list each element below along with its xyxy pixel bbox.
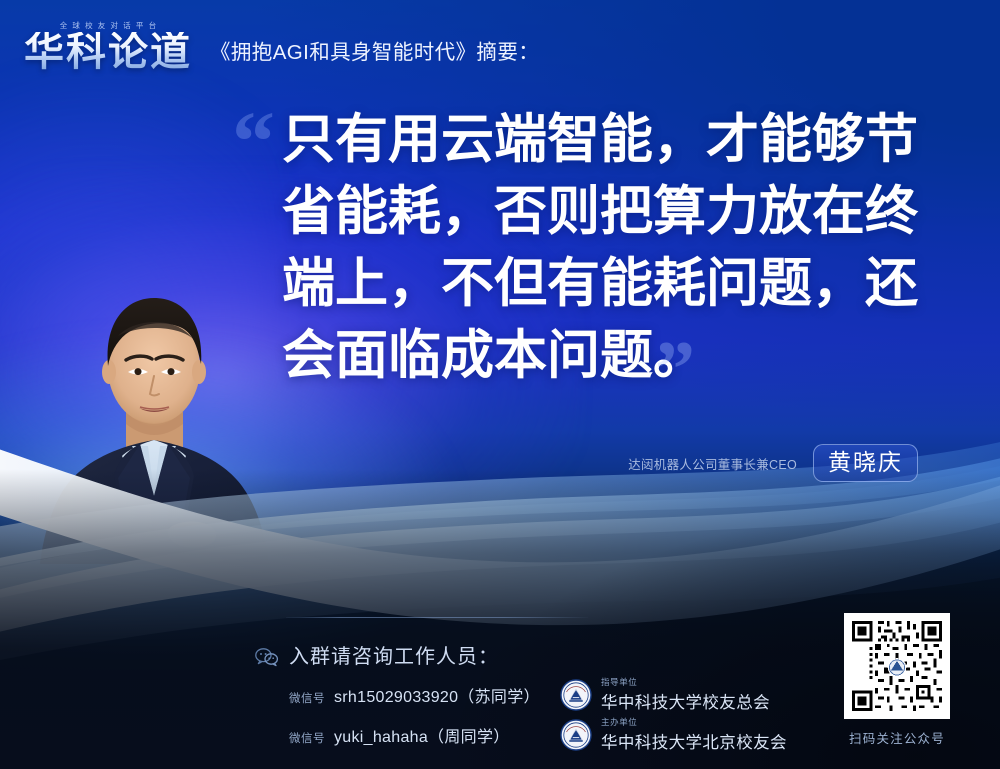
contact-row: 微信号 yuki_hahaha（周同学）: [289, 723, 510, 747]
quote-line: 端上，不但有能耗问题，还: [282, 248, 942, 320]
quote-line: 会面临成本问题。: [282, 320, 706, 392]
organization-kind: 主办单位: [601, 716, 787, 728]
speaker-role: 达闼机器人公司董事长兼CEO: [628, 454, 797, 473]
poster-header: 全球校友对话平台 华科论道 《拥抱AGI和具身智能时代》摘要：: [0, 0, 1000, 92]
qr-block: 扫码关注公众号: [844, 613, 950, 747]
contact-row: 微信号 srh15029033920（苏同学）: [289, 683, 540, 707]
qr-code-icon[interactable]: [844, 613, 950, 719]
attribution: 达闼机器人公司董事长兼CEO 黄晓庆: [628, 444, 918, 482]
hust-seal-icon: [560, 719, 592, 751]
contact-value: srh15029033920（苏同学）: [334, 683, 540, 707]
quote-open-mark: “: [232, 98, 275, 184]
wechat-icon: [255, 647, 279, 667]
footer-divider: [286, 617, 588, 618]
quote-line: 只有用云端智能，才能够节: [282, 104, 942, 176]
organization-kind: 指导单位: [601, 676, 770, 688]
contact-label: 微信号: [289, 690, 325, 706]
organization-name: 华中科技大学北京校友会: [601, 729, 787, 753]
contact-value: yuki_hahaha（周同学）: [334, 723, 510, 747]
logo-wordmark: 华科论道: [24, 32, 192, 72]
page-title: 《拥抱AGI和具身智能时代》摘要：: [210, 35, 539, 65]
speaker-name-badge: 黄晓庆: [813, 444, 918, 482]
qr-caption: 扫码关注公众号: [849, 728, 945, 747]
organization-name: 华中科技大学校友总会: [601, 689, 770, 713]
quote-line: 省能耗，否则把算力放在终: [282, 176, 942, 248]
quote-close-mark: ”: [655, 330, 695, 410]
quote-text: 只有用云端智能，才能够节 省能耗，否则把算力放在终 端上，不但有能耗问题，还 会…: [282, 104, 942, 392]
organization-row: 主办单位 华中科技大学北京校友会: [560, 716, 787, 753]
footer-heading: 入群请咨询工作人员：: [289, 640, 499, 669]
contact-label: 微信号: [289, 730, 325, 746]
hust-seal-icon: [560, 679, 592, 711]
poster-footer: 入群请咨询工作人员： 微信号 srh15029033920（苏同学） 微信号 y…: [0, 609, 1000, 769]
brand-logo: 全球校友对话平台 华科论道: [24, 20, 192, 72]
poster-canvas: 全球校友对话平台 华科论道 《拥抱AGI和具身智能时代》摘要： “ 只有用云端智…: [0, 0, 1000, 769]
organization-row: 指导单位 华中科技大学校友总会: [560, 676, 770, 713]
